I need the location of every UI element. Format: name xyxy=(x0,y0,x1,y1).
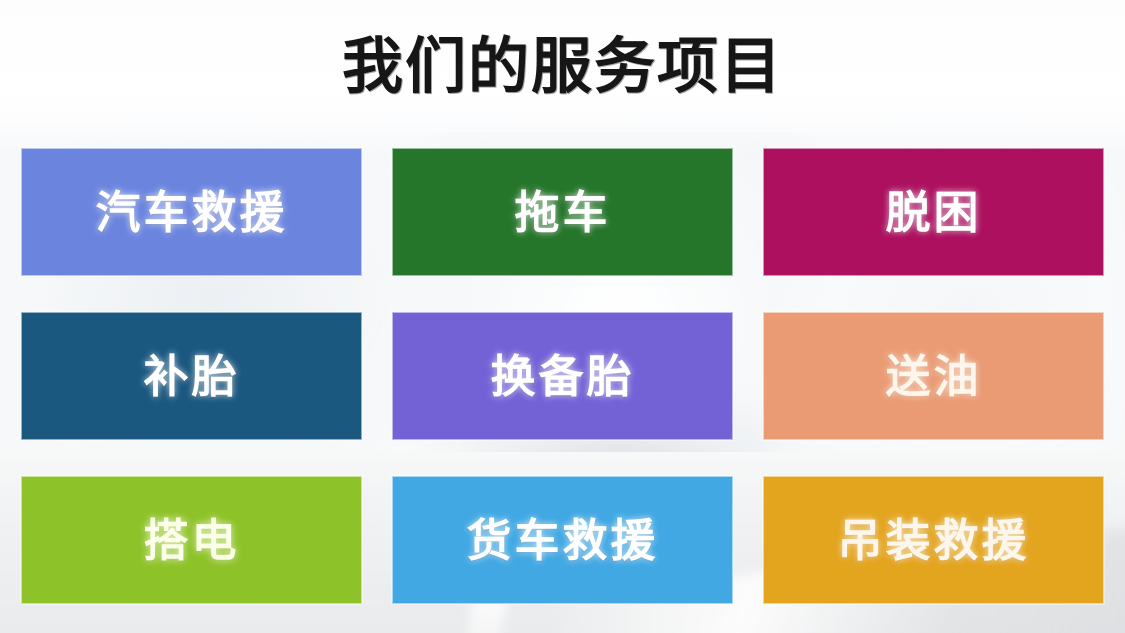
service-tile-label: 吊装救援 xyxy=(837,518,1029,563)
service-tile-label: 脱困 xyxy=(885,190,981,235)
service-tile[interactable]: 拖车 xyxy=(392,148,733,276)
service-tile[interactable]: 搭电 xyxy=(21,476,362,604)
service-tile-label: 货车救援 xyxy=(466,518,658,563)
service-tile[interactable]: 换备胎 xyxy=(392,312,733,440)
page-header: 我们的服务项目 xyxy=(0,0,1125,132)
service-tile-label: 换备胎 xyxy=(490,354,634,399)
service-tile[interactable]: 脱困 xyxy=(763,148,1104,276)
service-poster: 我们的服务项目 汽车救援拖车脱困补胎换备胎送油搭电货车救援吊装救援 xyxy=(0,0,1125,633)
service-tile-grid: 汽车救援拖车脱困补胎换备胎送油搭电货车救援吊装救援 xyxy=(21,148,1104,611)
service-tile-label: 搭电 xyxy=(143,518,239,563)
service-tile[interactable]: 货车救援 xyxy=(392,476,733,604)
service-tile-label: 汽车救援 xyxy=(95,190,287,235)
service-tile-label: 拖车 xyxy=(514,190,610,235)
page-title: 我们的服务项目 xyxy=(342,36,783,97)
service-tile[interactable]: 吊装救援 xyxy=(763,476,1104,604)
service-tile[interactable]: 送油 xyxy=(763,312,1104,440)
service-tile[interactable]: 补胎 xyxy=(21,312,362,440)
service-tile-label: 送油 xyxy=(885,354,981,399)
service-tile-label: 补胎 xyxy=(143,354,239,399)
service-tile[interactable]: 汽车救援 xyxy=(21,148,362,276)
